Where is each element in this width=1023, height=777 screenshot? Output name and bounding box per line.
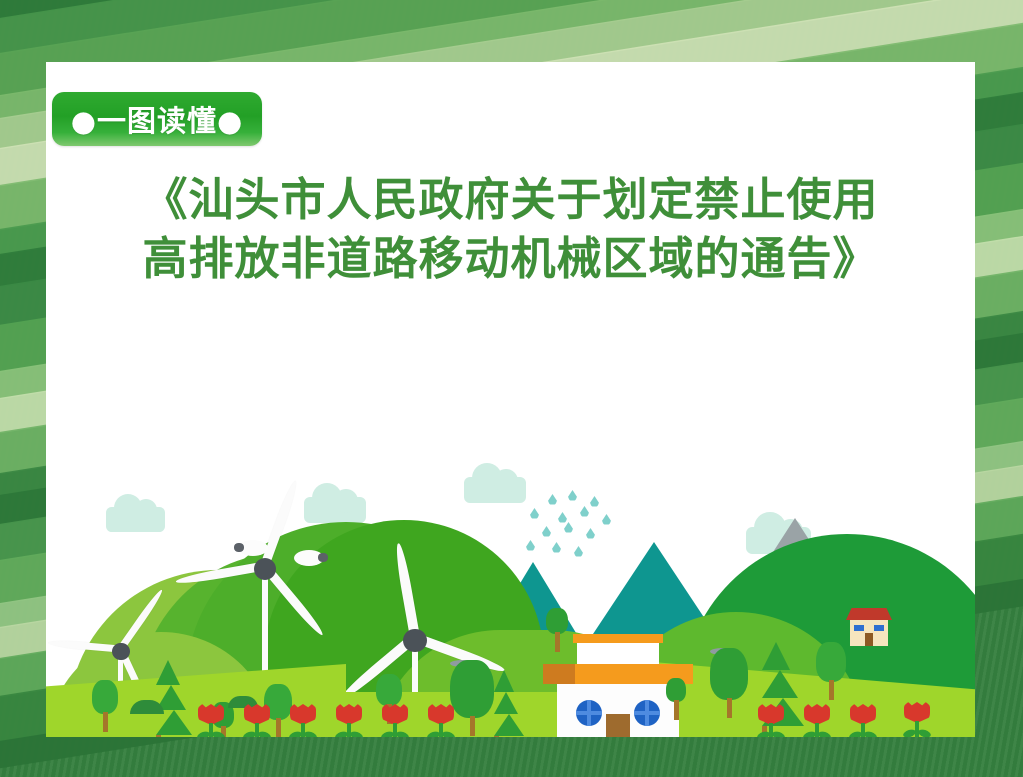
tulip-icon — [428, 704, 454, 737]
badge-label: ●一图读懂● — [71, 98, 244, 140]
cloud-icon — [304, 497, 366, 523]
tree-trunk — [727, 698, 732, 718]
tree-crown — [666, 678, 686, 702]
tulip-leaf-right — [395, 730, 410, 737]
tulip-icon — [850, 704, 876, 737]
read-in-one-picture-badge[interactable]: ●一图读懂● — [52, 92, 262, 146]
tree-trunk — [829, 680, 834, 700]
tree-round-icon — [666, 678, 686, 720]
cloud-icon — [106, 507, 165, 532]
pine-top — [762, 642, 790, 670]
tulip-leaf-right — [349, 730, 364, 737]
tree-crown — [376, 674, 402, 706]
tree-pine-icon — [156, 660, 192, 732]
tulip-bud — [850, 704, 876, 725]
tulip-icon — [290, 704, 316, 737]
tulip-icon — [904, 702, 930, 737]
sheep-head — [318, 553, 328, 562]
sheep-icon — [294, 550, 328, 568]
rain-drop-icon — [602, 514, 611, 525]
tulip-leaf-right — [771, 730, 786, 737]
tulip-leaf-right — [817, 730, 832, 737]
pine-trunk — [494, 736, 499, 737]
tulip-leaf-left — [426, 730, 441, 737]
tree-trunk — [103, 712, 108, 732]
tree-trunk — [276, 718, 281, 737]
eco-landscape-illustration — [46, 312, 975, 737]
tulip-bud — [428, 704, 454, 725]
tree-crown — [710, 648, 748, 700]
tree-trunk — [555, 632, 560, 652]
tulip-icon — [244, 704, 270, 737]
big-house-window-right — [634, 700, 660, 726]
tulip-icon — [198, 704, 224, 737]
small-house-door — [865, 633, 873, 646]
tulip-icon — [336, 704, 362, 737]
rain-drop-icon — [590, 496, 599, 507]
big-house-door — [606, 714, 630, 737]
tulip-icon — [382, 704, 408, 737]
tulip-leaf-left — [334, 730, 349, 737]
small-house-window-left — [854, 625, 864, 631]
small-house-roof — [846, 608, 892, 620]
tulip-leaf-left — [802, 730, 817, 737]
sheep-head — [234, 543, 244, 552]
tree-round-icon — [546, 608, 568, 652]
title-line-1: 《汕头市人民政府关于划定禁止使用 — [46, 170, 975, 229]
pine-mid — [494, 692, 518, 714]
rain-drop-icon — [542, 526, 551, 537]
big-house-window-left-bar-h — [576, 711, 602, 715]
poster-card: ●一图读懂● 《汕头市人民政府关于划定禁止使用 高排放非道路移动机械区域的通告》 — [46, 62, 975, 737]
tree-round-icon — [92, 680, 118, 732]
turbine-blade — [48, 639, 120, 652]
tulip-bud — [244, 704, 270, 725]
tulip-icon — [804, 704, 830, 737]
pine-trunk — [156, 735, 161, 737]
tulip-leaf-right — [303, 730, 318, 737]
tree-crown — [816, 642, 846, 682]
tulip-bud — [804, 704, 830, 725]
big-house-window-left — [576, 700, 602, 726]
big-house-roof-shadow — [543, 664, 575, 684]
tulip-leaf-left — [848, 730, 863, 737]
page-title: 《汕头市人民政府关于划定禁止使用 高排放非道路移动机械区域的通告》 — [46, 170, 975, 289]
tulip-bud — [336, 704, 362, 725]
tree-crown — [92, 680, 118, 714]
rain-drop-icon — [580, 506, 589, 517]
pine-top — [494, 670, 514, 692]
tulip-bud — [382, 704, 408, 725]
turbine-blade — [175, 562, 265, 586]
big-house-window-right-bar-h — [634, 711, 660, 715]
tulip-bud — [758, 704, 784, 725]
tree-trunk — [674, 700, 679, 720]
tree-round-icon — [710, 648, 748, 718]
tree-pine-icon — [494, 670, 524, 734]
rain-drop-icon — [586, 528, 595, 539]
tree-round-icon — [816, 642, 846, 700]
big-house-upper-roof — [573, 634, 663, 643]
pine-bottom — [494, 714, 524, 736]
sheep-icon — [234, 540, 268, 558]
tulip-icon — [758, 704, 784, 737]
cloud-icon — [464, 477, 526, 503]
tulip-bud — [290, 704, 316, 725]
rain-drop-icon — [568, 490, 577, 501]
small-house-window-right — [874, 625, 884, 631]
tulip-leaf-left — [288, 730, 303, 737]
pine-top — [156, 660, 180, 685]
turbine-hub — [254, 558, 276, 580]
tulip-leaf-right — [441, 730, 456, 737]
tulip-leaf-left — [196, 730, 211, 737]
rain-drop-icon — [548, 494, 557, 505]
tulip-leaf-right — [211, 730, 226, 737]
tree-round-icon — [450, 660, 494, 736]
tree-crown — [546, 608, 568, 634]
tree-trunk — [470, 716, 475, 736]
tree-crown — [450, 660, 494, 718]
tulip-bud — [198, 704, 224, 725]
rain-drop-icon — [558, 512, 567, 523]
tulip-leaf-right — [863, 730, 878, 737]
poster-stage: ●一图读懂● 《汕头市人民政府关于划定禁止使用 高排放非道路移动机械区域的通告》 — [0, 0, 1023, 777]
rain-drop-icon — [530, 508, 539, 519]
tulip-leaf-right — [257, 730, 272, 737]
tulip-bud — [904, 702, 930, 723]
tulip-leaf-left — [380, 730, 395, 737]
small-house-icon — [846, 608, 892, 646]
turbine-hub — [403, 629, 426, 652]
title-line-2: 高排放非道路移动机械区域的通告》 — [46, 229, 975, 288]
turbine-hub — [112, 643, 130, 661]
tulip-leaf-right — [917, 728, 932, 737]
pine-mid — [762, 670, 798, 698]
tulip-leaf-left — [756, 730, 771, 737]
rain-drop-icon — [526, 540, 535, 551]
tulip-leaf-left — [242, 730, 257, 737]
rain-drop-icon — [564, 522, 573, 533]
big-house-upper-wall — [577, 642, 659, 664]
